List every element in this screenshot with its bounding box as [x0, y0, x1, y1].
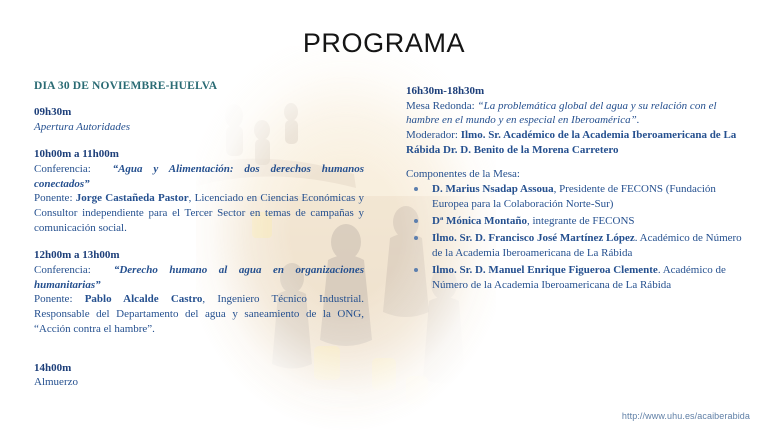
round-table-line: Mesa Redonda: “La problemática global de… — [406, 99, 742, 128]
component-name: Ilmo. Sr. D. Francisco José Martínez Lóp… — [432, 232, 635, 244]
conference-line: Conferencia: “Derecho humano al agua en … — [34, 263, 364, 292]
bullet-icon — [414, 219, 418, 223]
schedule-detail: Apertura Autoridades — [34, 120, 364, 135]
round-table-label: Mesa Redonda: — [406, 100, 475, 112]
speaker-label: Ponente: — [34, 192, 73, 204]
speaker-name: Pablo Alcalde Castro — [85, 293, 203, 305]
schedule-time: 12h00m a 13h00m — [34, 248, 364, 263]
component-name: Dª Mónica Montaño — [432, 215, 527, 227]
speaker-line: Ponente: Pablo Alcalde Castro, Ingeniero… — [34, 292, 364, 336]
day-heading: DIA 30 DE NOVIEMBRE-HUELVA — [34, 80, 364, 92]
spacer — [406, 157, 742, 168]
component-desc: , integrante de FECONS — [527, 215, 635, 227]
components-list: D. Marius Nsadap Assoua, Presidente de F… — [406, 182, 742, 293]
moderator-label: Moderador: — [406, 129, 458, 141]
schedule-time: 10h00m a 11h00m — [34, 147, 364, 162]
component-name: Ilmo. Sr. D. Manuel Enrique Figueroa Cle… — [432, 264, 658, 276]
presentation-slide: PROGRAMA DIA 30 DE NOVIEMBRE-HUELVA 09h3… — [0, 0, 768, 432]
conference-line: Conferencia: “Agua y Alimentación: dos d… — [34, 162, 364, 191]
schedule-time: 14h00m — [34, 361, 364, 376]
speaker-line: Ponente: Jorge Castañeda Pastor, Licenci… — [34, 191, 364, 235]
speaker-label: Ponente: — [34, 293, 73, 305]
right-column: 16h30m-18h30m Mesa Redonda: “La problemá… — [406, 84, 742, 295]
bullet-icon — [414, 268, 418, 272]
list-item: D. Marius Nsadap Assoua, Presidente de F… — [406, 182, 742, 212]
schedule-time: 09h30m — [34, 105, 364, 120]
bullet-icon — [414, 187, 418, 191]
components-label: Componentes de la Mesa: — [406, 168, 742, 180]
schedule-block: 09h30m Apertura Autoridades — [34, 105, 364, 134]
conference-label: Conferencia: — [34, 163, 91, 175]
list-item: Ilmo. Sr. D. Francisco José Martínez Lóp… — [406, 231, 742, 261]
speaker-name: Jorge Castañeda Pastor — [76, 192, 189, 204]
page-title: PROGRAMA — [0, 28, 768, 59]
schedule-time: 16h30m-18h30m — [406, 84, 742, 99]
schedule-detail: Almuerzo — [34, 375, 364, 390]
list-item: Dª Mónica Montaño, integrante de FECONS — [406, 214, 742, 229]
component-name: D. Marius Nsadap Assoua — [432, 183, 554, 195]
conference-label: Conferencia: — [34, 264, 91, 276]
list-item: Ilmo. Sr. D. Manuel Enrique Figueroa Cle… — [406, 263, 742, 293]
schedule-block: 14h00m Almuerzo — [34, 361, 364, 390]
schedule-block: 10h00m a 11h00m Conferencia: “Agua y Ali… — [34, 147, 364, 235]
spacer — [34, 350, 364, 361]
bullet-icon — [414, 236, 418, 240]
footer-url[interactable]: http://www.uhu.es/acaiberabida — [622, 411, 750, 421]
left-column: DIA 30 DE NOVIEMBRE-HUELVA 09h30m Apertu… — [34, 80, 364, 403]
schedule-block: 12h00m a 13h00m Conferencia: “Derecho hu… — [34, 248, 364, 336]
moderator-line: Moderador: Ilmo. Sr. Académico de la Aca… — [406, 128, 742, 157]
